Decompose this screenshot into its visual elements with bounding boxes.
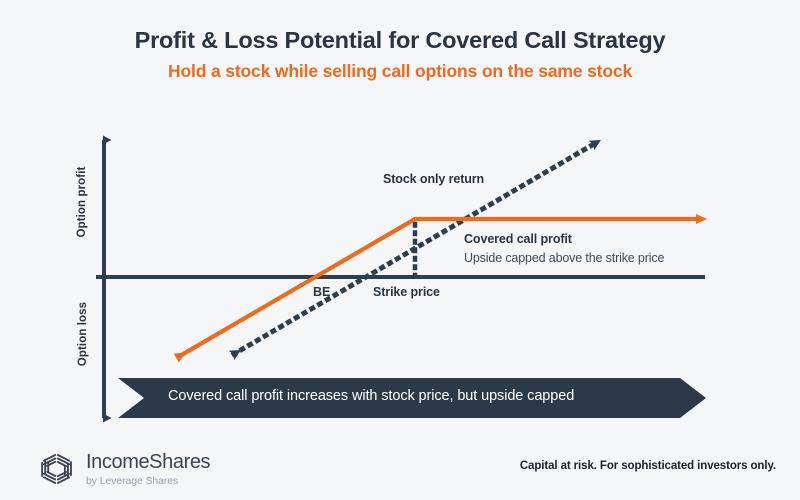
- brand-tagline: by Leverage Shares: [86, 475, 210, 487]
- brand-logo-text: IncomeShares by Leverage Shares: [86, 452, 210, 487]
- annotation-covered-call-profit-title: Covered call profit: [464, 232, 664, 248]
- brand-name: IncomeShares: [86, 452, 210, 473]
- marker-label-strike-price: Strike price: [373, 285, 440, 299]
- brand-logo: IncomeShares by Leverage Shares: [36, 448, 210, 490]
- chart-canvas: [0, 0, 800, 500]
- incomeshares-hexagon-logo-icon: [36, 448, 78, 490]
- infographic-root: Profit & Loss Potential for Covered Call…: [0, 0, 800, 500]
- annotation-covered-call-profit: Covered call profit Upside capped above …: [464, 232, 664, 267]
- y-axis-label-loss: Option loss: [77, 244, 89, 424]
- annotation-covered-call-profit-subtitle: Upside capped above the strike price: [464, 250, 664, 267]
- disclaimer-text: Capital at risk. For sophisticated inves…: [520, 460, 776, 472]
- summary-banner-text: Covered call profit increases with stock…: [168, 388, 574, 404]
- marker-label-break-even: BE: [313, 285, 330, 299]
- annotation-stock-only-return: Stock only return: [383, 172, 484, 186]
